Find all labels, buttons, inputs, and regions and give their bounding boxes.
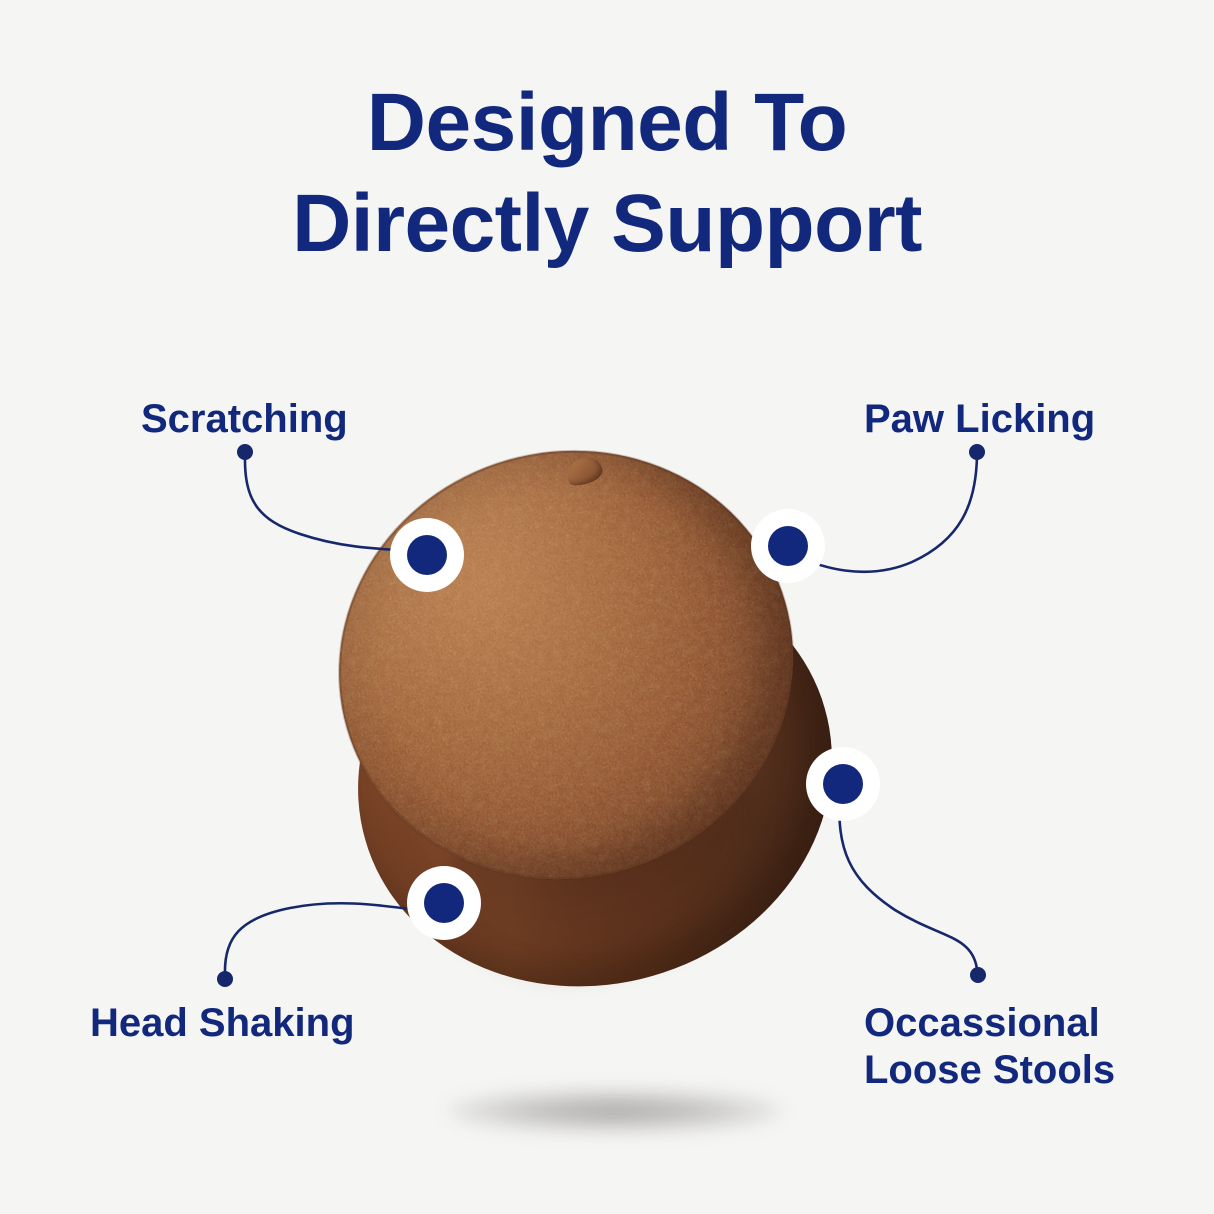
- page-title-line-2: Directly Support: [0, 173, 1214, 274]
- callout-label-scratching: Scratching: [141, 396, 348, 443]
- page-title: Designed To Directly Support: [0, 72, 1214, 274]
- connector-line-scratching: [245, 455, 416, 551]
- connector-dot-scratching: [237, 444, 253, 460]
- chew-top-face: [288, 397, 844, 932]
- product-drop-shadow: [447, 1090, 783, 1132]
- callout-label-loose-stools: Occassional Loose Stools: [864, 1000, 1115, 1094]
- callout-label-paw-licking: Paw Licking: [864, 396, 1095, 443]
- connector-dot-head-shaking: [217, 971, 233, 987]
- chew-edge-shading: [288, 397, 844, 932]
- chew-rim-line: [288, 397, 844, 932]
- chew-side-wall: [307, 506, 882, 1041]
- chew-grain-texture: [288, 397, 844, 932]
- callout-label-head-shaking: Head Shaking: [90, 1000, 355, 1047]
- connector-line-loose-stools: [839, 793, 977, 969]
- chew-grain-texture-coarse: [288, 397, 844, 932]
- chew-highlight: [288, 397, 844, 932]
- callout-pin-loose-stools[interactable]: [806, 747, 880, 821]
- callout-pin-head-shaking[interactable]: [407, 866, 481, 940]
- connector-dot-paw-licking: [969, 444, 985, 460]
- callout-pin-scratching[interactable]: [390, 518, 464, 592]
- page-title-line-1: Designed To: [0, 72, 1214, 173]
- connector-dot-loose-stools: [970, 967, 986, 983]
- chew-crumb-nub: [562, 452, 605, 490]
- callout-pin-paw-licking[interactable]: [751, 509, 825, 583]
- infographic-root: Designed To Directly Support: [0, 0, 1214, 1214]
- connector-line-head-shaking: [225, 903, 435, 974]
